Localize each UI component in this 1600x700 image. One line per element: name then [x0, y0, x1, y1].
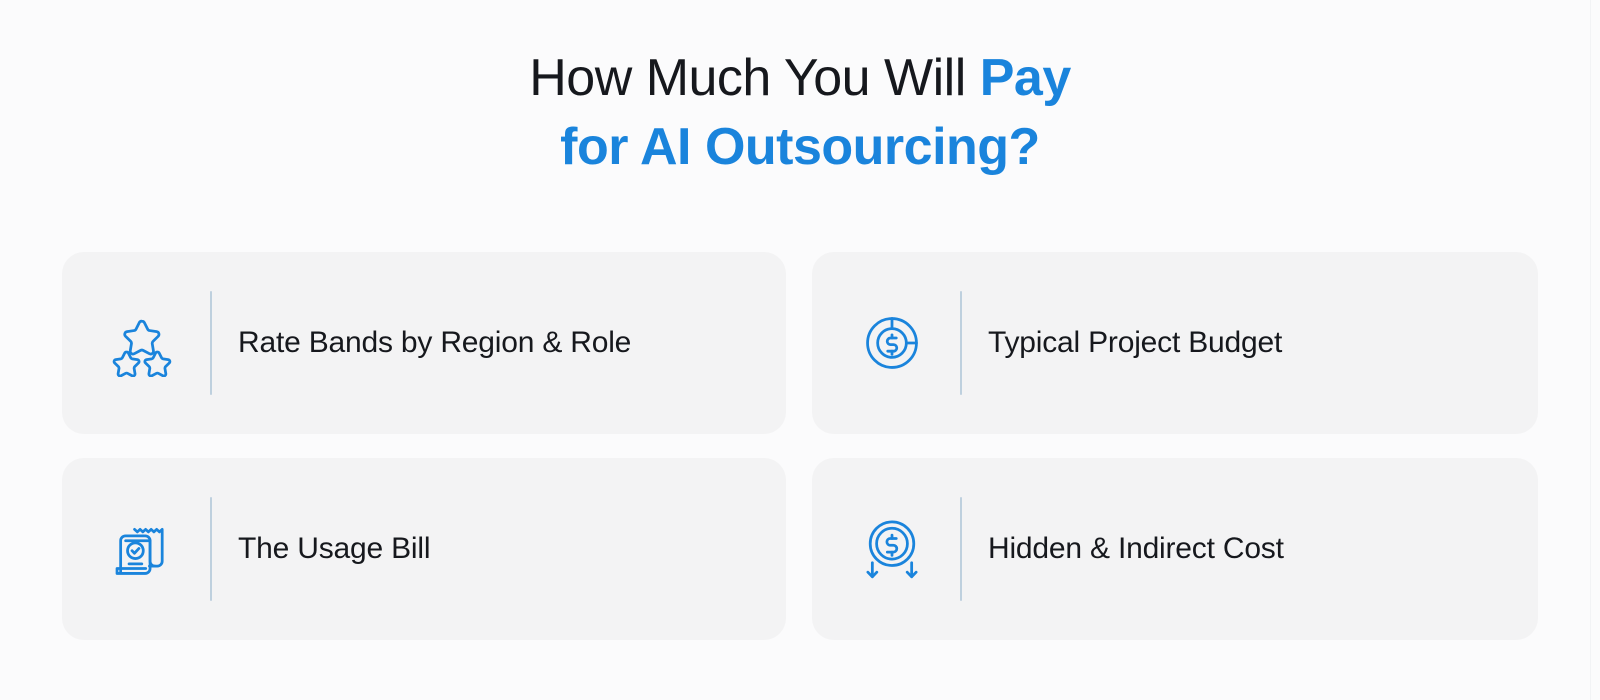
- right-edge-divider: [1590, 0, 1591, 700]
- card-divider: [960, 291, 962, 395]
- feature-card-label: Rate Bands by Region & Role: [238, 325, 631, 361]
- page-title-line-1: How Much You Will Pay: [0, 52, 1600, 105]
- card-divider: [210, 497, 212, 601]
- card-divider: [960, 497, 962, 601]
- receipt-check-icon: [96, 503, 188, 595]
- card-divider: [210, 291, 212, 395]
- three-stars-icon: [96, 297, 188, 389]
- feature-card-label: Typical Project Budget: [988, 325, 1282, 361]
- feature-card-usage-bill[interactable]: The Usage Bill: [62, 458, 786, 640]
- feature-card-label: The Usage Bill: [238, 531, 430, 567]
- feature-card-grid: Rate Bands by Region & Role Typical Proj…: [62, 252, 1539, 640]
- feature-card-typical-project-budget[interactable]: Typical Project Budget: [812, 252, 1538, 434]
- infographic-page: How Much You Will Pay for AI Outsourcing…: [0, 0, 1600, 700]
- feature-card-rate-bands[interactable]: Rate Bands by Region & Role: [62, 252, 786, 434]
- feature-card-hidden-indirect-cost[interactable]: Hidden & Indirect Cost: [812, 458, 1538, 640]
- coin-down-arrows-icon: [846, 503, 938, 595]
- page-title-line-2: for AI Outsourcing?: [0, 121, 1600, 174]
- page-title-line-1-plain: How Much You Will: [529, 49, 980, 107]
- page-title-accent-word: Pay: [980, 49, 1071, 107]
- feature-card-label: Hidden & Indirect Cost: [988, 531, 1284, 567]
- dollar-pie-chart-icon: [846, 297, 938, 389]
- page-title: How Much You Will Pay for AI Outsourcing…: [0, 52, 1600, 174]
